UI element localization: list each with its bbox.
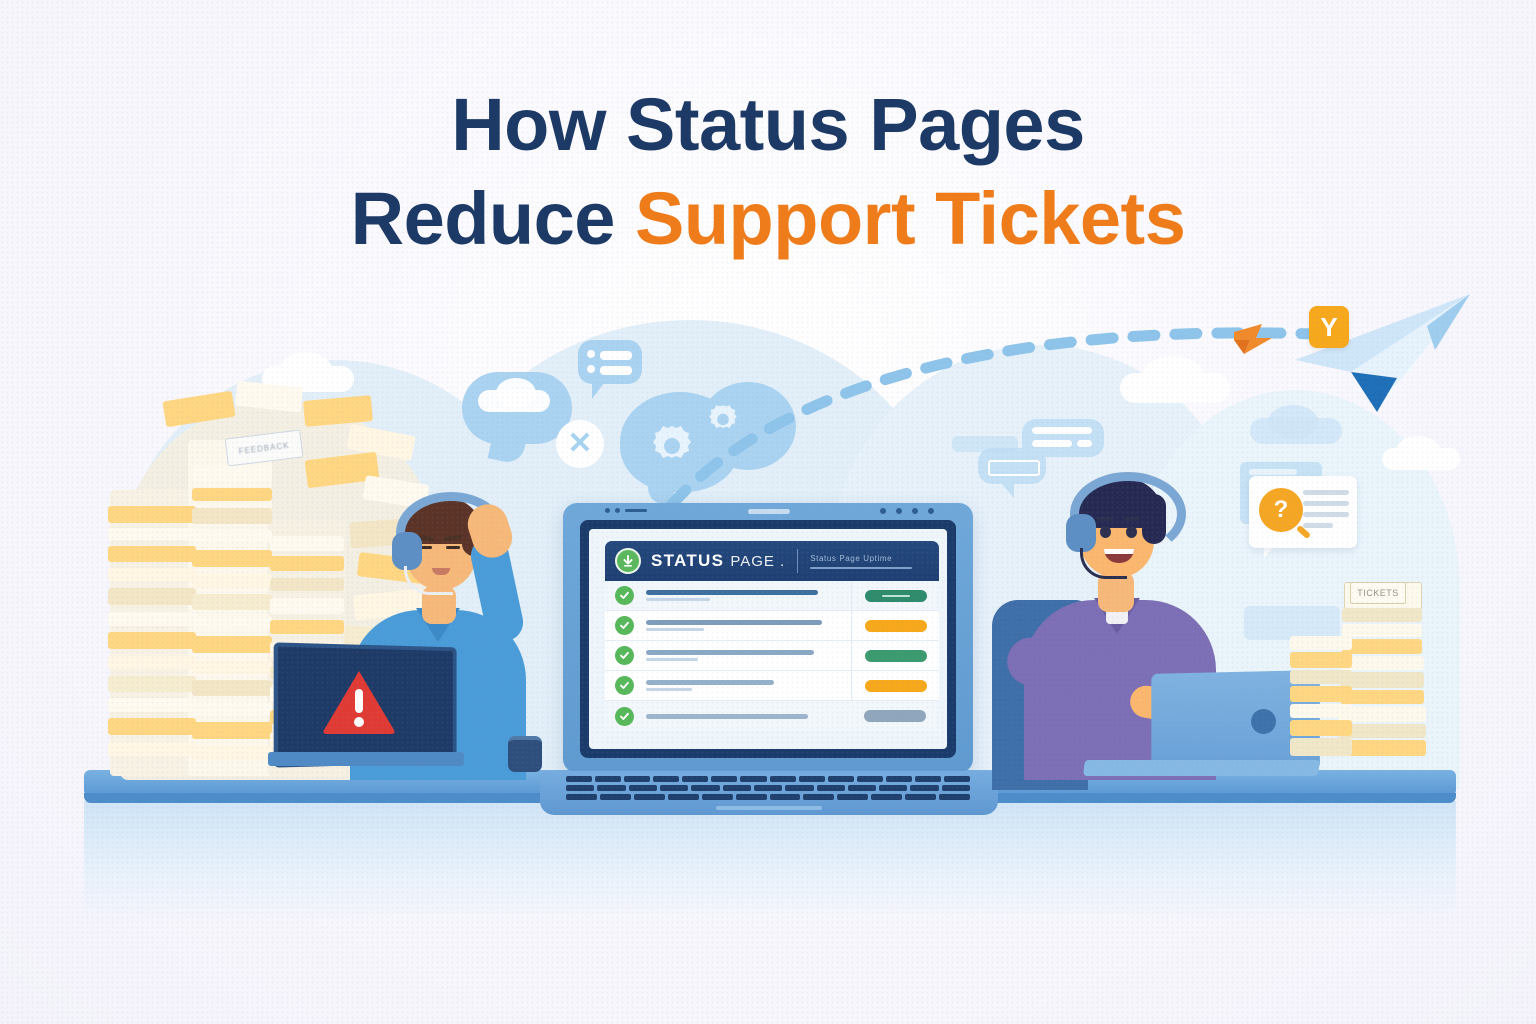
tickets-label: TICKETS: [1350, 582, 1406, 604]
check-circle-icon: [615, 646, 634, 665]
status-page-header: STATUS PAGE . Status Page Uptime: [605, 541, 939, 581]
row-text-bars: [634, 650, 851, 661]
headset-mic: [404, 566, 453, 595]
status-badge: [865, 650, 927, 662]
headset-earcup: [1066, 514, 1096, 552]
row-status-cell: [851, 701, 939, 731]
agent-laptop-base: [1083, 760, 1320, 776]
illustration-canvas: ✕ ✕ Y: [0, 0, 1536, 1024]
page-title: How Status Pages Reduce Support Tickets: [0, 78, 1536, 266]
status-badge: [864, 710, 926, 722]
cloud-icon: [1396, 436, 1440, 466]
chat-bubble-icon: [462, 372, 572, 444]
laptop-keyboard: [566, 776, 970, 802]
laptop-speaker-grille: [748, 509, 790, 514]
status-page-meta-text: Status Page Uptime: [810, 554, 929, 563]
envelope-label-text: FEEDBACK: [238, 440, 290, 455]
check-circle-icon: [615, 616, 634, 635]
headset-earcup: [392, 532, 422, 570]
check-circle-icon: [615, 586, 634, 605]
download-check-icon: [615, 548, 641, 574]
row-text-bars: [634, 620, 851, 631]
headset-mic: [1080, 548, 1127, 579]
plane-badge: Y: [1309, 306, 1349, 348]
status-badge: [865, 590, 927, 602]
row-status-cell: [851, 671, 939, 700]
row-status-cell: [851, 641, 939, 670]
table-row[interactable]: [605, 611, 939, 641]
status-page-rows: [605, 581, 939, 749]
alert-laptop-base: [268, 752, 464, 766]
row-text-bars: [634, 680, 851, 691]
warning-triangle-icon: [322, 668, 396, 736]
row-text-bars: [634, 590, 851, 601]
status-page-title: STATUS PAGE .: [651, 551, 785, 571]
desk-reflection: [84, 801, 1456, 921]
laptop-indicator-dots: [880, 508, 934, 514]
table-row[interactable]: [605, 581, 939, 611]
laptop-trackpad: [716, 806, 822, 810]
tickets-stack: [1290, 580, 1470, 770]
headline-prefix: Reduce: [351, 177, 635, 260]
question-card: ?: [1249, 476, 1357, 548]
status-page-title-strong: STATUS: [651, 551, 724, 570]
headline-line-2: Reduce Support Tickets: [0, 172, 1536, 266]
row-status-cell: [851, 611, 939, 640]
status-page-meta-underline: [810, 567, 912, 569]
laptop-logo: [1251, 709, 1276, 734]
status-page-meta: Status Page Uptime: [810, 554, 929, 569]
orange-arrow-icon: [1232, 322, 1278, 356]
status-badge: [865, 680, 927, 692]
row-text-bars: [634, 714, 851, 719]
status-page-screen: STATUS PAGE . Status Page Uptime: [589, 529, 947, 749]
headline-accent: Support Tickets: [635, 177, 1185, 260]
x-circle-icon: ✕: [556, 420, 604, 468]
status-page-title-light: PAGE .: [730, 553, 785, 570]
mouse-device: [508, 736, 542, 772]
magnifier-question-icon: ?: [1259, 488, 1303, 532]
table-row[interactable]: [605, 671, 939, 701]
question-card-lines: [1303, 490, 1349, 534]
status-badge: [865, 620, 927, 632]
check-circle-icon: [615, 676, 634, 695]
table-row[interactable]: [605, 701, 939, 731]
laptop-indicator-dots: [605, 508, 647, 513]
row-status-cell: [851, 581, 939, 610]
header-divider: [797, 549, 798, 573]
check-circle-icon: [615, 707, 634, 726]
table-row[interactable]: [605, 641, 939, 671]
headline-line-1: How Status Pages: [0, 78, 1536, 172]
